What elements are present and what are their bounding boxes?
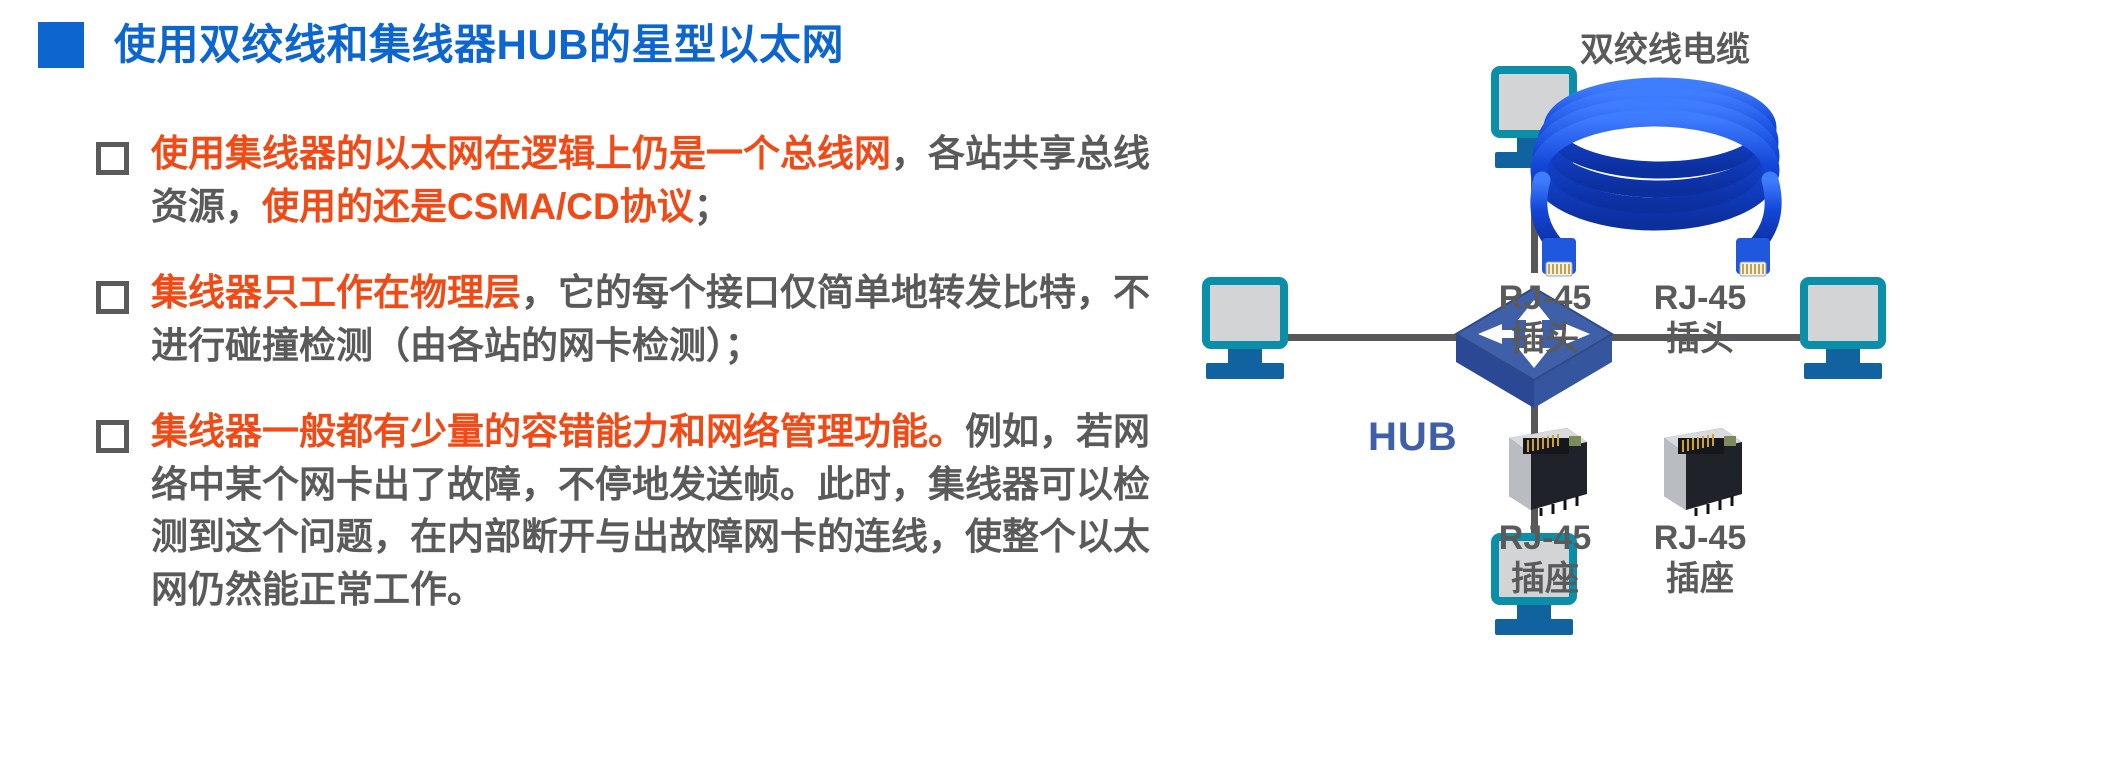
rj45-plug-left-label-line1: RJ-45 <box>1490 278 1600 319</box>
text-segment-highlight: 集线器只工作在物理层 <box>151 272 521 313</box>
rj45-jack-right-image <box>1652 420 1748 516</box>
page-title: 使用双绞线和集线器HUB的星型以太网 <box>114 24 844 66</box>
text-segment-plain: ； <box>694 186 731 227</box>
rj45-jack-right-label-line1: RJ-45 <box>1645 518 1755 559</box>
computer-right[interactable] <box>1800 277 1886 379</box>
list-item-text: 集线器一般都有少量的容错能力和网络管理功能。例如，若网络中某个网卡出了故障，不停… <box>151 406 1156 616</box>
rj45-plug-right-label-line2: 插头 <box>1645 319 1755 360</box>
monitor-base <box>1206 363 1284 379</box>
text-segment-highlight: 使用的还是CSMA/CD协议 <box>262 186 694 227</box>
monitor-neck <box>1228 349 1262 363</box>
rj45-jack-left-label: RJ-45 插座 <box>1490 518 1600 601</box>
monitor-neck <box>1517 605 1551 619</box>
list-item: 集线器只工作在物理层，它的每个接口仅简单地转发比特，不进行碰撞检测（由各站的网卡… <box>96 267 1156 372</box>
monitor-screen-icon <box>1202 277 1288 349</box>
list-item: 集线器一般都有少量的容错能力和网络管理功能。例如，若网络中某个网卡出了故障，不停… <box>96 406 1156 616</box>
checkbox-icon <box>96 420 129 453</box>
wire-left <box>1288 334 1468 341</box>
checkbox-icon <box>96 142 129 175</box>
monitor-base <box>1495 619 1573 635</box>
computer-left[interactable] <box>1202 277 1288 379</box>
rj45-jack-right-label-line2: 插座 <box>1645 559 1755 600</box>
text-segment-highlight: 集线器一般都有少量的容错能力和网络管理功能。 <box>151 411 965 452</box>
rj45-plug-right-label: RJ-45 插头 <box>1645 278 1755 361</box>
twisted-pair-cable-image <box>1490 70 1820 290</box>
list-item: 使用集线器的以太网在逻辑上仍是一个总线网，各站共享总线资源，使用的还是CSMA/… <box>96 128 1156 233</box>
rj45-plug-left-icon <box>1542 238 1576 276</box>
hub-label: HUB <box>1368 415 1458 460</box>
cable-svg <box>1490 70 1820 290</box>
rj45-jack-right-label: RJ-45 插座 <box>1645 518 1755 601</box>
checkbox-icon <box>96 281 129 314</box>
rj45-jack-left-label-line2: 插座 <box>1490 559 1600 600</box>
rj45-jack-right-icon <box>1652 420 1748 516</box>
rj45-plug-left-label: RJ-45 插头 <box>1490 278 1600 361</box>
list-item-text: 使用集线器的以太网在逻辑上仍是一个总线网，各站共享总线资源，使用的还是CSMA/… <box>151 128 1156 233</box>
title-bullet-marker-icon <box>38 22 84 68</box>
monitor-base <box>1804 363 1882 379</box>
rj45-jack-left-image <box>1497 420 1593 516</box>
cable-title-label: 双绞线电缆 <box>1580 22 1750 71</box>
rj45-jack-left-icon <box>1497 420 1593 516</box>
bullet-list: 使用集线器的以太网在逻辑上仍是一个总线网，各站共享总线资源，使用的还是CSMA/… <box>96 128 1156 650</box>
slide-title-row: 使用双绞线和集线器HUB的星型以太网 <box>38 22 844 68</box>
rj45-jack-left-label-line1: RJ-45 <box>1490 518 1600 559</box>
rj45-plug-right-label-line1: RJ-45 <box>1645 278 1755 319</box>
monitor-neck <box>1826 349 1860 363</box>
rj45-plug-right-icon <box>1736 238 1770 276</box>
text-segment-highlight: 使用集线器的以太网在逻辑上仍是一个总线网 <box>151 133 891 174</box>
list-item-text: 集线器只工作在物理层，它的每个接口仅简单地转发比特，不进行碰撞检测（由各站的网卡… <box>151 267 1156 372</box>
star-ethernet-diagram: HUB 双绞线电缆 <box>1160 0 2109 783</box>
rj45-plug-left-label-line2: 插头 <box>1490 319 1600 360</box>
